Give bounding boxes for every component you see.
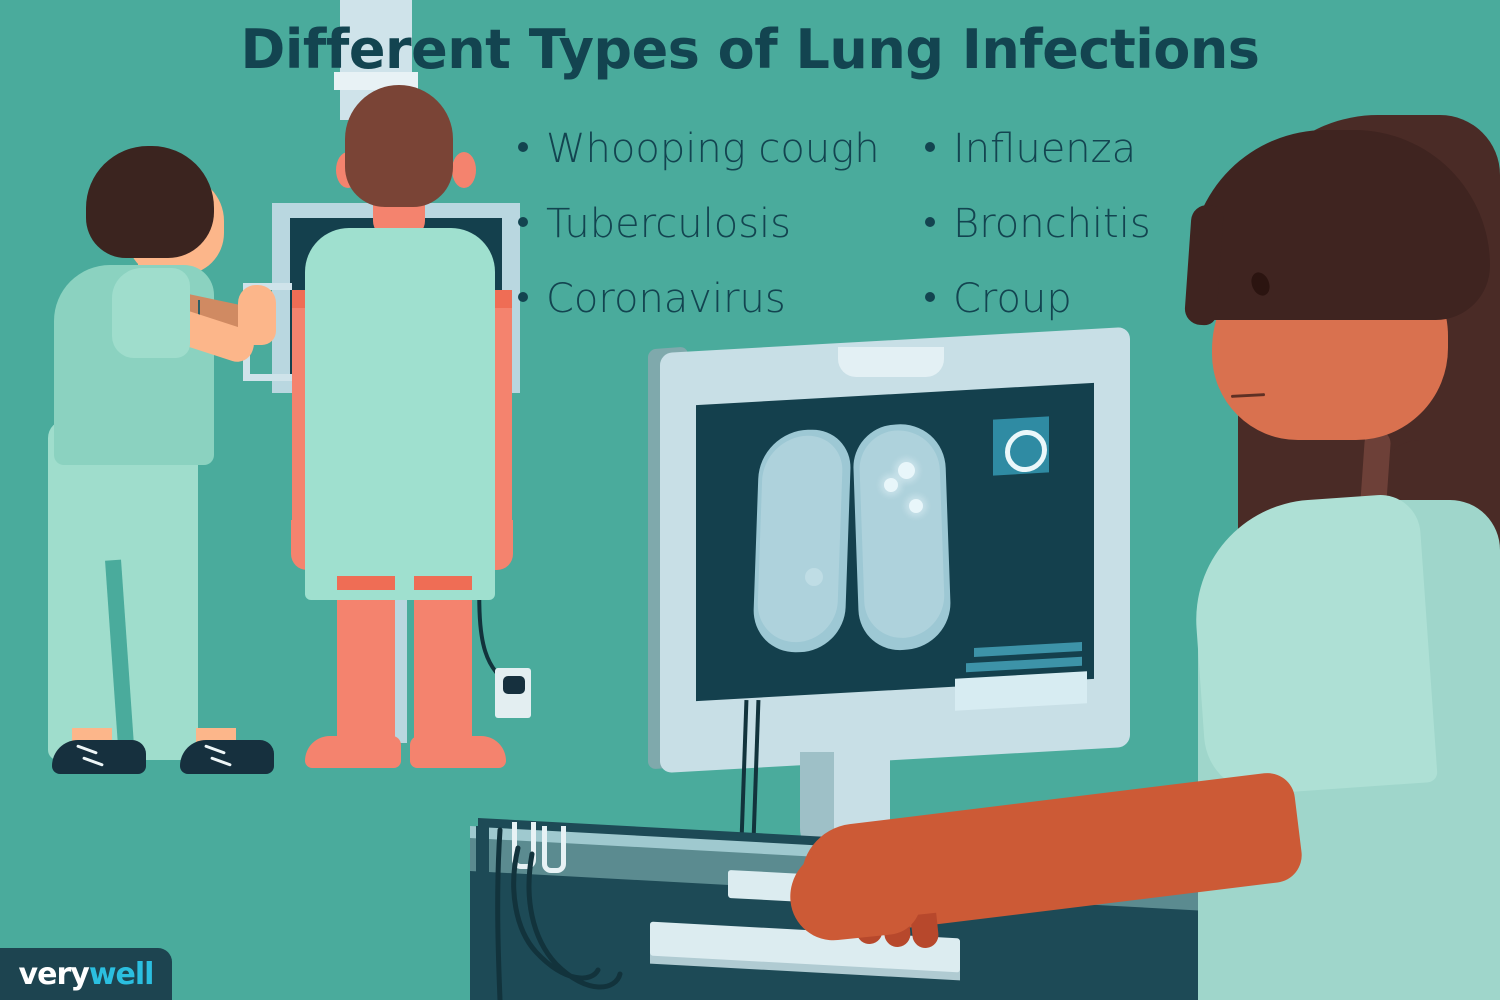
list-item: Croup [925,262,1151,337]
patient-leg-hem-left [337,576,395,590]
list-item: Bronchitis [925,187,1151,262]
bullet-icon [518,217,528,227]
patient-gown [305,228,495,600]
technician-hair [86,146,214,258]
xray-lesion-spot [909,499,923,513]
list-item-label: Croup [953,262,1072,337]
patient-ear-right [452,152,476,188]
list-item: Whooping cough [518,112,880,187]
list-item: Influenza [925,112,1151,187]
xray-lung-left-inner [756,435,843,643]
technician-shoe-left [52,740,146,774]
list-item-label: Bronchitis [953,187,1151,262]
list-item: Tuberculosis [518,187,880,262]
patient-foot-left [305,736,401,768]
list-item: Coronavirus [518,262,880,337]
technician-shoe-right [180,740,274,774]
xray-lesion-spot [884,478,898,492]
patient-hair [345,85,453,207]
infection-list-right-column: Influenza Bronchitis Croup [925,112,1151,337]
patient-leg-left [337,576,395,756]
patient-leg-right [414,576,472,756]
illustration-canvas: Different Types of Lung Infections Whoop… [0,0,1500,1000]
xray-lung-right-inner [858,427,945,642]
patient-foot-right [410,736,506,768]
xray-lesion-spot [898,462,915,479]
wall-outlet-plug [503,676,525,694]
infection-list-left-column: Whooping cough Tuberculosis Coronavirus [518,112,880,337]
list-item-label: Whooping cough [546,112,880,187]
bullet-icon [925,292,935,302]
list-item-label: Coronavirus [546,262,786,337]
logo-text-very: very [19,957,89,992]
doctor-sleeve [1188,492,1438,797]
logo-text-well: well [89,957,154,992]
bullet-icon [925,217,935,227]
xray-lesion-spot [805,568,823,586]
bullet-icon [518,142,528,152]
technician-sleeve [112,268,190,358]
technician-hand [238,285,276,345]
patient-leg-hem-right [414,576,472,590]
bullet-icon [518,292,528,302]
list-item-label: Tuberculosis [546,187,791,262]
list-item-label: Influenza [953,112,1136,187]
bullet-icon [925,142,935,152]
verywell-logo[interactable]: verywell [0,948,172,1000]
page-title: Different Types of Lung Infections [0,18,1500,81]
monitor-top-bezel [838,347,944,377]
